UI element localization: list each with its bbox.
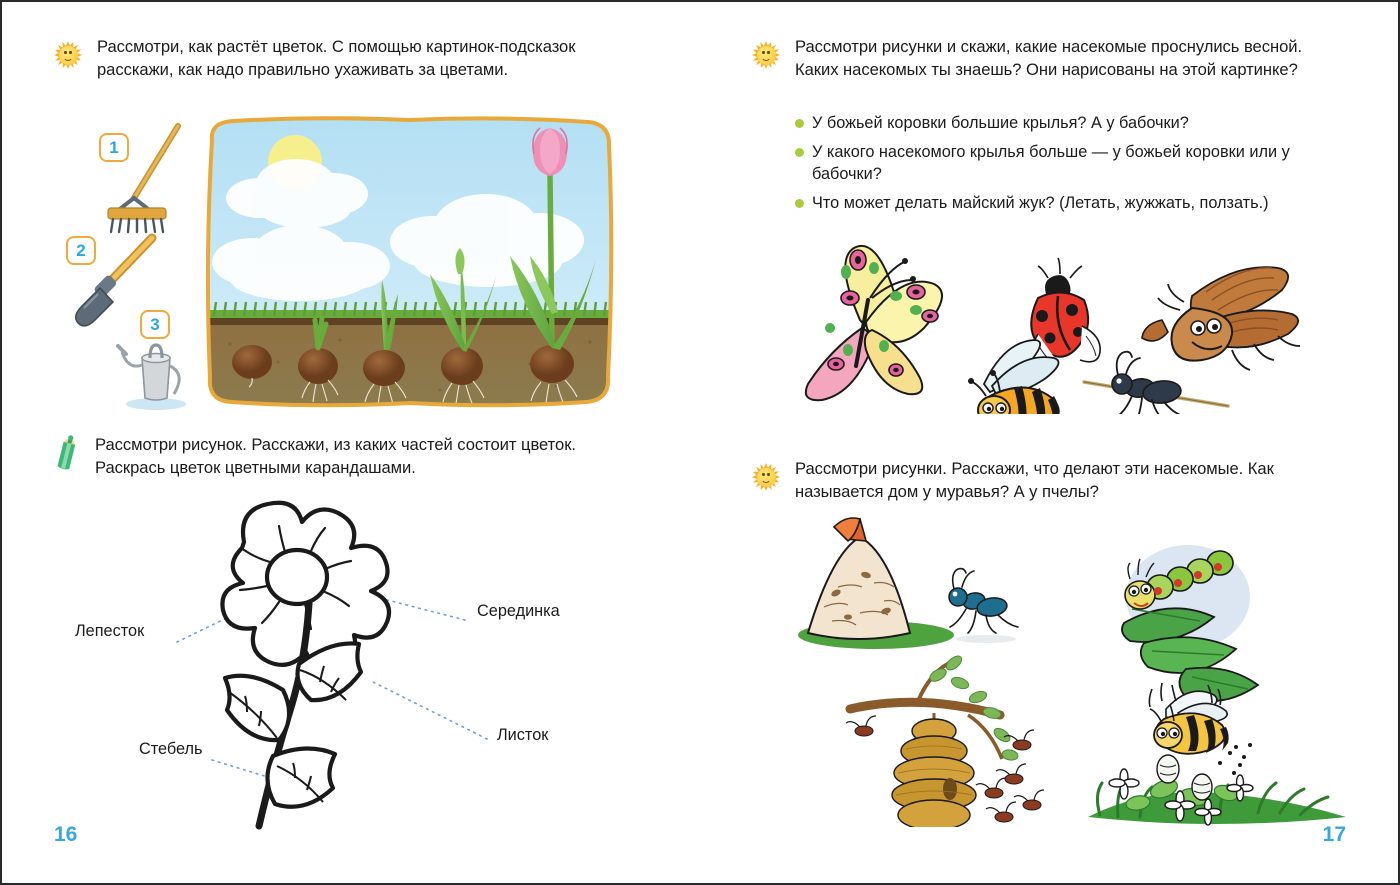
watering-can-icon xyxy=(112,332,198,412)
list-item: У какого насекомого крылья больше — у бо… xyxy=(795,141,1325,185)
bullet-icon xyxy=(795,119,804,128)
ant-icon xyxy=(1084,352,1228,414)
question-list: У божьей коровки большие крылья? А у баб… xyxy=(795,112,1325,222)
anthill-scene xyxy=(798,518,1018,649)
bullet-icon xyxy=(795,148,804,157)
pencil-icon xyxy=(50,434,84,472)
shovel-icon xyxy=(64,224,164,334)
page-number-left: 16 xyxy=(54,823,77,847)
insect-homes-illustration xyxy=(788,517,1348,827)
list-item: Что может делать майский жук? (Летать, ж… xyxy=(795,192,1325,214)
question-text: У божьей коровки большие крылья? А у баб… xyxy=(812,112,1189,134)
list-item: У божьей коровки большие крылья? А у баб… xyxy=(795,112,1325,134)
sun-icon xyxy=(748,459,784,495)
label-petal: Лепесток xyxy=(75,622,144,641)
task-4-instruction: Рассмотри рисунки. Расскажи, что делают … xyxy=(748,458,1348,504)
book-spread: Рассмотри, как растёт цветок. С помощью … xyxy=(0,0,1400,885)
label-stem: Стебель xyxy=(139,740,203,759)
bee-flowers-scene xyxy=(1088,683,1346,825)
rake-icon xyxy=(98,120,188,235)
task-3-instruction: Рассмотри рисунки и скажи, какие насеком… xyxy=(748,36,1333,82)
label-center: Серединка xyxy=(477,602,560,621)
task-2-instruction: Рассмотри рисунок. Расскажи, из каких ча… xyxy=(50,434,650,480)
bullet-icon xyxy=(795,199,804,208)
sun-icon xyxy=(748,37,784,73)
ladybug-icon xyxy=(1030,258,1100,372)
caterpillar-scene xyxy=(1122,545,1258,701)
butterfly-icon xyxy=(806,246,942,400)
spring-insects-illustration xyxy=(788,224,1348,414)
may-beetle-icon xyxy=(1142,267,1300,370)
page-left: Рассмотри, как растёт цветок. С помощью … xyxy=(2,2,700,883)
tulip-growth-illustration xyxy=(200,114,620,410)
sun-icon xyxy=(50,37,86,73)
task-1-instruction: Рассмотри, как растёт цветок. С помощью … xyxy=(50,36,650,82)
page-number-right: 17 xyxy=(1323,823,1346,847)
beehive-scene xyxy=(846,653,1044,827)
page-right: Рассмотри рисунки и скажи, какие насеком… xyxy=(700,2,1398,883)
label-leaf: Листок xyxy=(497,726,548,745)
question-text: У какого насекомого крылья больше — у бо… xyxy=(812,141,1325,185)
task-1-text: Рассмотри, как растёт цветок. С помощью … xyxy=(97,36,650,82)
task-3-text: Рассмотри рисунки и скажи, какие насеком… xyxy=(795,36,1333,82)
flower-parts-diagram: Лепесток Серединка Стебель Листок xyxy=(57,492,637,832)
question-text: Что может делать майский жук? (Летать, ж… xyxy=(812,192,1269,214)
task-4-text: Рассмотри рисунки. Расскажи, что делают … xyxy=(795,458,1348,504)
task-2-text: Рассмотри рисунок. Расскажи, из каких ча… xyxy=(95,434,650,480)
